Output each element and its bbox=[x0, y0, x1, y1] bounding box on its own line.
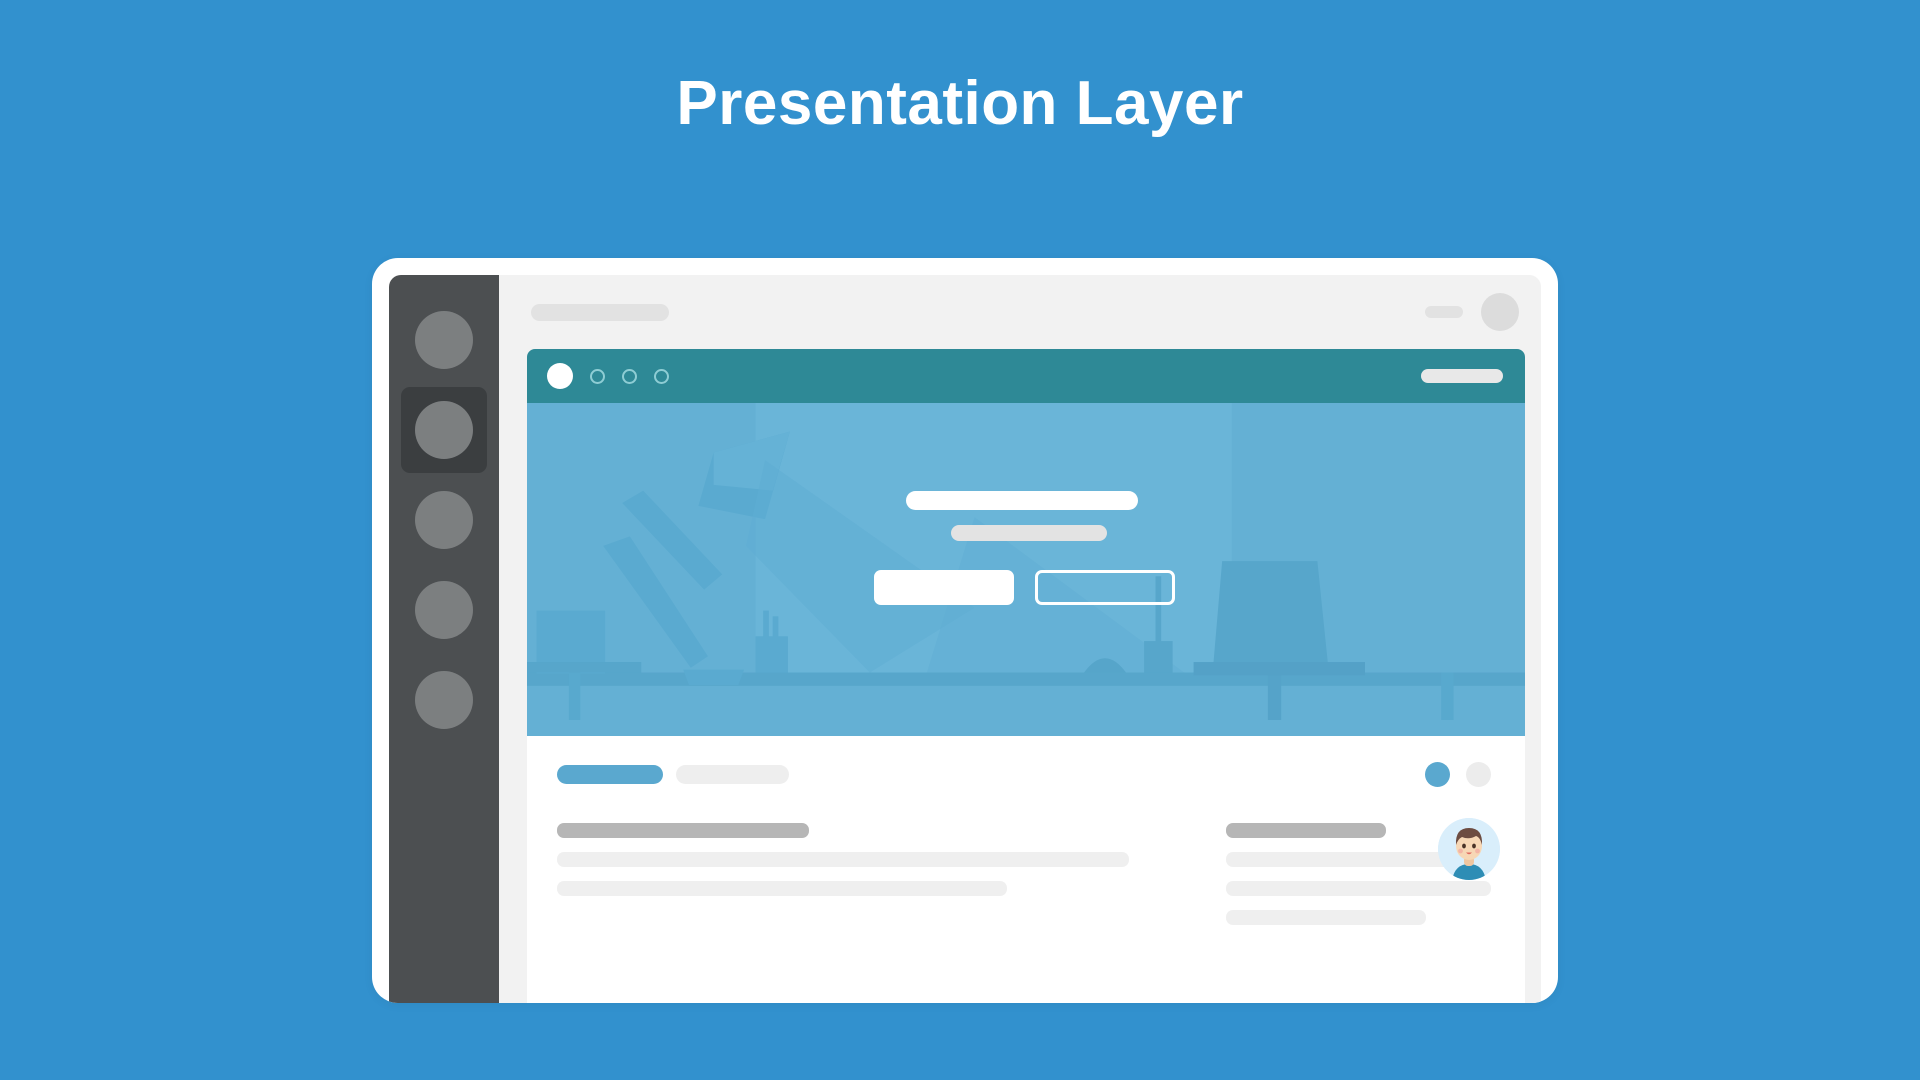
app-main-panel bbox=[499, 275, 1541, 1003]
text-line-heading bbox=[1226, 823, 1386, 838]
sidebar-item-4[interactable] bbox=[401, 567, 487, 653]
circle-icon bbox=[415, 491, 473, 549]
text-line bbox=[1226, 910, 1426, 925]
hero-content bbox=[527, 491, 1525, 605]
topbar-actions bbox=[1425, 293, 1519, 331]
topbar-title-placeholder bbox=[531, 304, 669, 321]
hero-secondary-button[interactable] bbox=[1035, 570, 1175, 605]
tab-inactive[interactable] bbox=[676, 765, 789, 784]
hero-cta-group bbox=[874, 570, 1175, 605]
browser-window bbox=[527, 349, 1525, 1003]
hero-primary-button[interactable] bbox=[874, 570, 1014, 605]
tab-active[interactable] bbox=[557, 765, 663, 784]
sidebar-item-5[interactable] bbox=[401, 657, 487, 743]
sidebar-item-1[interactable] bbox=[401, 297, 487, 383]
avatar-person-icon bbox=[1438, 818, 1500, 880]
topbar-menu-placeholder[interactable] bbox=[1425, 306, 1463, 318]
content-section bbox=[527, 736, 1525, 1003]
pagination-dot-active[interactable] bbox=[1425, 762, 1450, 787]
sidebar-item-2[interactable] bbox=[401, 387, 487, 473]
text-line bbox=[1226, 881, 1491, 896]
circle-icon bbox=[415, 671, 473, 729]
pagination-dots bbox=[1425, 762, 1491, 787]
text-line bbox=[557, 852, 1129, 867]
left-column bbox=[557, 823, 1129, 939]
hero-banner bbox=[527, 403, 1525, 736]
page-title: Presentation Layer bbox=[0, 70, 1920, 138]
tablet-screen bbox=[389, 275, 1541, 1003]
pagination-dot-inactive[interactable] bbox=[1466, 762, 1491, 787]
window-dot-3-icon[interactable] bbox=[654, 369, 669, 384]
window-dot-1-icon[interactable] bbox=[590, 369, 605, 384]
content-header bbox=[557, 762, 1491, 787]
tablet-device-frame bbox=[372, 258, 1558, 1003]
circle-icon bbox=[415, 401, 473, 459]
user-avatar[interactable] bbox=[1438, 818, 1500, 880]
window-dot-active-icon[interactable] bbox=[547, 363, 573, 389]
text-line bbox=[557, 881, 1007, 896]
window-dot-2-icon[interactable] bbox=[622, 369, 637, 384]
circle-icon bbox=[415, 581, 473, 639]
tab-group bbox=[557, 765, 789, 784]
browser-url-placeholder[interactable] bbox=[1421, 369, 1503, 383]
sidebar-item-3[interactable] bbox=[401, 477, 487, 563]
hero-headline-placeholder bbox=[906, 491, 1138, 510]
browser-titlebar bbox=[527, 349, 1525, 403]
topbar-avatar[interactable] bbox=[1481, 293, 1519, 331]
browser-traffic-lights bbox=[547, 363, 669, 389]
app-topbar bbox=[499, 275, 1541, 349]
text-line-heading bbox=[557, 823, 809, 838]
app-sidebar bbox=[389, 275, 499, 1003]
hero-subtitle-placeholder bbox=[951, 525, 1107, 541]
circle-icon bbox=[415, 311, 473, 369]
content-columns bbox=[557, 823, 1491, 939]
